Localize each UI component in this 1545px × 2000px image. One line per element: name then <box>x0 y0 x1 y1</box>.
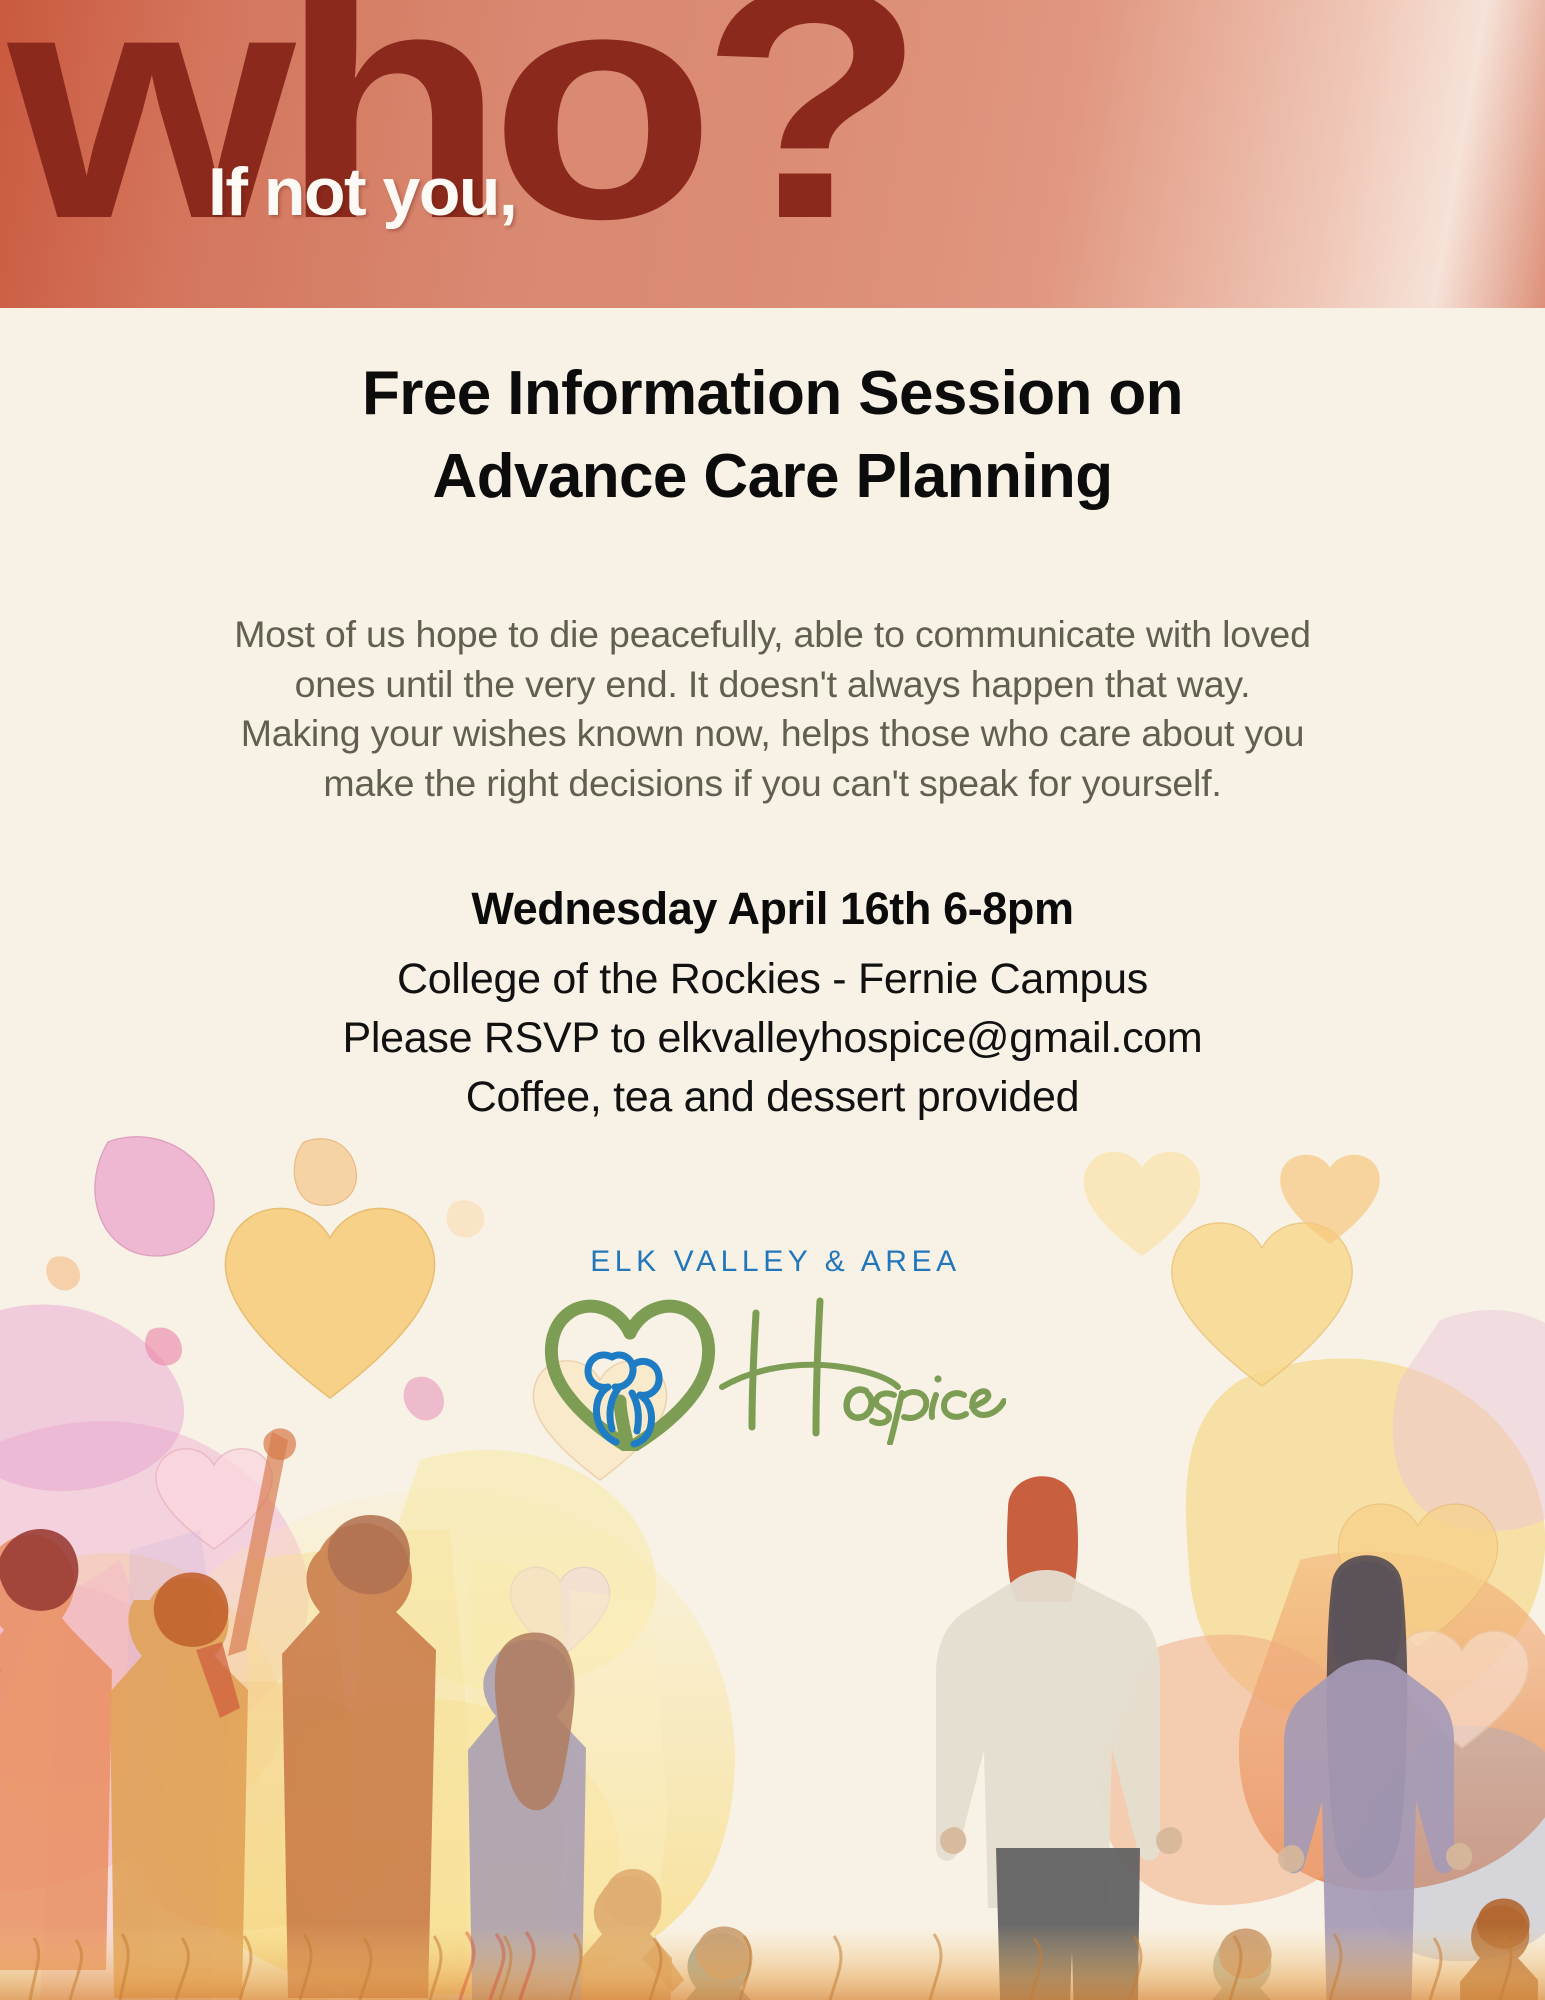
header-banner: who? If not you, <box>0 0 1545 308</box>
event-refreshments: Coffee, tea and dessert provided <box>0 1068 1545 1127</box>
intro-line-2: ones until the very end. It doesn't alwa… <box>95 660 1450 710</box>
poster-root: who? If not you, Free Information Sessio… <box>0 0 1545 2000</box>
heart-with-figures-icon <box>540 1289 722 1451</box>
event-rsvp[interactable]: Please RSVP to elkvalleyhospice@gmail.co… <box>0 1009 1545 1068</box>
intro-paragraph: Most of us hope to die peacefully, able … <box>95 610 1450 808</box>
logo-top-line: ELK VALLEY & AREA <box>584 1245 961 1279</box>
intro-line-4: make the right decisions if you can't sp… <box>95 759 1450 809</box>
intro-line-1: Most of us hope to die peacefully, able … <box>95 610 1450 660</box>
event-details: Wednesday April 16th 6-8pm College of th… <box>0 880 1545 1128</box>
hospice-logo: ELK VALLEY & AREA <box>0 1245 1545 1451</box>
page-title: Free Information Session on Advance Care… <box>0 352 1545 518</box>
intro-line-3: Making your wishes known now, helps thos… <box>95 709 1450 759</box>
page-title-line-1: Free Information Session on <box>0 352 1545 435</box>
banner-overlay-text: If not you, <box>208 158 516 226</box>
logo-mark-row <box>540 1289 1006 1451</box>
event-date-time: Wednesday April 16th 6-8pm <box>0 880 1545 938</box>
logo-wordmark <box>716 1295 1006 1445</box>
page-title-line-2: Advance Care Planning <box>0 435 1545 518</box>
event-venue: College of the Rockies - Fernie Campus <box>0 950 1545 1009</box>
